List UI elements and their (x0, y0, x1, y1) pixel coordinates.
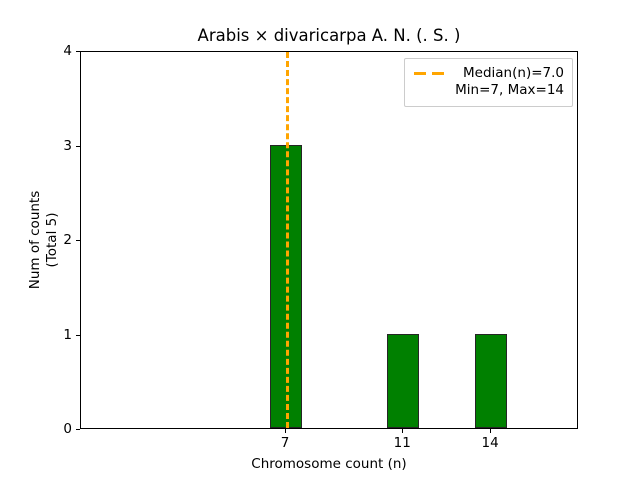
y-tick-mark (76, 240, 80, 241)
x-tick-label: 11 (394, 435, 411, 451)
x-tick-mark (402, 429, 403, 433)
y-axis-label: Num of counts (27, 191, 43, 290)
bar (387, 334, 419, 429)
x-axis-label: Chromosome count (n) (80, 456, 578, 472)
y-tick-mark (76, 335, 80, 336)
figure-canvas: Arabis × divaricarpa A. N. (. S. ) 01234… (0, 0, 640, 480)
dashed-line-icon (413, 65, 449, 82)
legend-entry-texts: Median(n)=7.0 Min=7, Max=14 (449, 65, 564, 99)
bar (475, 334, 507, 429)
legend-entry-median: Median(n)=7.0 Min=7, Max=14 (413, 65, 564, 99)
legend-label-median: Median(n)=7.0 (449, 65, 564, 82)
median-line (286, 52, 289, 428)
x-tick-mark (490, 429, 491, 433)
y-tick-label: 0 (12, 421, 72, 437)
chart-title: Arabis × divaricarpa A. N. (. S. ) (80, 26, 578, 45)
y-tick-label: 1 (12, 327, 72, 343)
y-tick-mark (76, 146, 80, 147)
y-tick-mark (76, 51, 80, 52)
plot-axes (80, 51, 578, 429)
y-tick-mark (76, 429, 80, 430)
chart-legend: Median(n)=7.0 Min=7, Max=14 (404, 58, 573, 107)
x-tick-mark (285, 429, 286, 433)
x-tick-label: 14 (482, 435, 499, 451)
plot-area (81, 52, 577, 428)
x-tick-label: 7 (281, 435, 290, 451)
y-tick-label: 3 (12, 138, 72, 154)
y-tick-label: 4 (12, 43, 72, 59)
y-axis-label-total: (Total 5) (44, 213, 60, 268)
legend-label-minmax: Min=7, Max=14 (449, 82, 564, 99)
